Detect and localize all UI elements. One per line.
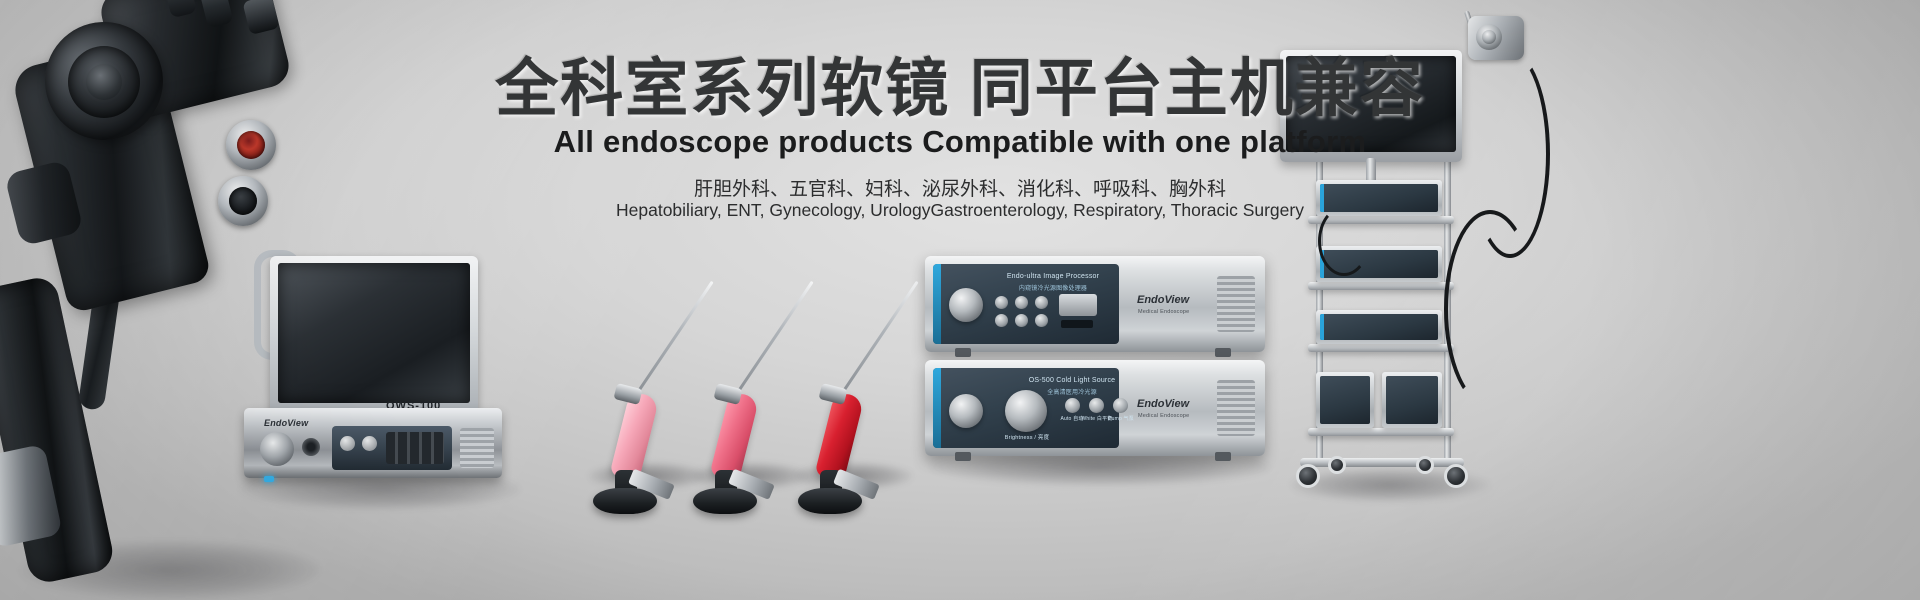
processor-foot-left: [955, 348, 971, 357]
light-source-pump-label: Pump 气泵: [1106, 416, 1136, 424]
light-source-white-balance-button: [1089, 398, 1104, 413]
light-source-unit: OS-500 Cold Light Source 全高清医用冷光源 Bright…: [925, 360, 1265, 456]
hanging-scope-tube-lower: [1444, 210, 1536, 408]
ows-brand-label: EndoView: [264, 418, 308, 428]
processor-vent: [1217, 276, 1255, 332]
light-source-brand-sub: Medical Endoscope: [1138, 413, 1189, 419]
processor-button-2: [1015, 296, 1028, 309]
instrument-shaft: [832, 281, 918, 407]
light-source-dial-label: Brightness / 亮度: [1003, 434, 1051, 442]
cart-wheel-rear-right: [1416, 456, 1434, 474]
instrument-handle: [814, 391, 864, 482]
processor-usb-port: [1061, 320, 1093, 328]
ows-vent-grille: [460, 428, 494, 468]
processor-panel-label-cn: 内窥镜冷光源图像处理器: [985, 285, 1121, 294]
cart-wheel-front-right: [1444, 464, 1468, 488]
processor-button-4: [995, 314, 1008, 327]
cart-wheel-front-left: [1296, 464, 1320, 488]
ows-keypad: [386, 432, 444, 464]
processor-button-5: [1015, 314, 1028, 327]
light-source-pump-button: [1113, 398, 1128, 413]
cart-unit-bottom-left: [1316, 372, 1374, 428]
light-source-brightness-dial: [1005, 390, 1047, 432]
instrument-base: [798, 488, 862, 514]
headline-english: All endoscope products Compatible with o…: [0, 126, 1920, 157]
processor-accent-bar: [933, 264, 941, 344]
departments-english: Hepatobiliary, ENT, Gynecology, UrologyG…: [0, 202, 1920, 220]
ows-display-screen: [278, 263, 470, 403]
departments-chinese: 肝胆外科、五官科、妇科、泌尿外科、消化科、呼吸科、胸外科: [0, 180, 1920, 199]
processor-brand-label: EndoView: [1137, 294, 1189, 306]
ows-small-dial-one: [340, 436, 355, 451]
cart-unit-lower: [1316, 310, 1442, 344]
image-processor-unit: Endo-ultra Image Processor 内窥镜冷光源图像处理器 E…: [925, 256, 1265, 352]
light-source-foot-left: [955, 452, 971, 461]
rigid-instrument-red: [710, 250, 880, 495]
light-source-accent-bar: [933, 368, 941, 448]
cart-base-bar: [1300, 458, 1464, 467]
processor-brand-sub: Medical Endoscope: [1138, 309, 1189, 315]
ows-monitor-unit: OWS-100 EndoView: [236, 250, 506, 490]
product-banner: OWS-100 EndoView: [0, 0, 1920, 600]
processor-panel-label-en: Endo-ultra Image Processor: [993, 272, 1113, 283]
processor-foot-right: [1215, 348, 1231, 357]
ows-main-dial: [260, 432, 294, 466]
ows-small-dial-two: [362, 436, 377, 451]
ows-status-led: [264, 476, 274, 482]
light-source-brand-label: EndoView: [1137, 398, 1189, 410]
cart-wheel-rear-left: [1328, 456, 1346, 474]
processor-button-6: [1035, 314, 1048, 327]
processor-button-3: [1035, 296, 1048, 309]
instrument-collar: [818, 383, 847, 405]
light-source-foot-right: [1215, 452, 1231, 461]
processor-button-1: [995, 296, 1008, 309]
hanging-scope-knob-small: [1482, 30, 1496, 44]
light-source-vent: [1217, 380, 1255, 436]
processor-display-window: [1059, 294, 1097, 316]
ows-connector-port: [302, 438, 320, 456]
light-source-connector-port: [949, 394, 983, 428]
processor-main-knob: [949, 288, 983, 322]
light-source-panel-label-en: OS-500 Cold Light Source: [1017, 376, 1127, 387]
light-source-auto-button: [1065, 398, 1080, 413]
headline-chinese: 全科室系列软镜 同平台主机兼容: [0, 58, 1920, 121]
